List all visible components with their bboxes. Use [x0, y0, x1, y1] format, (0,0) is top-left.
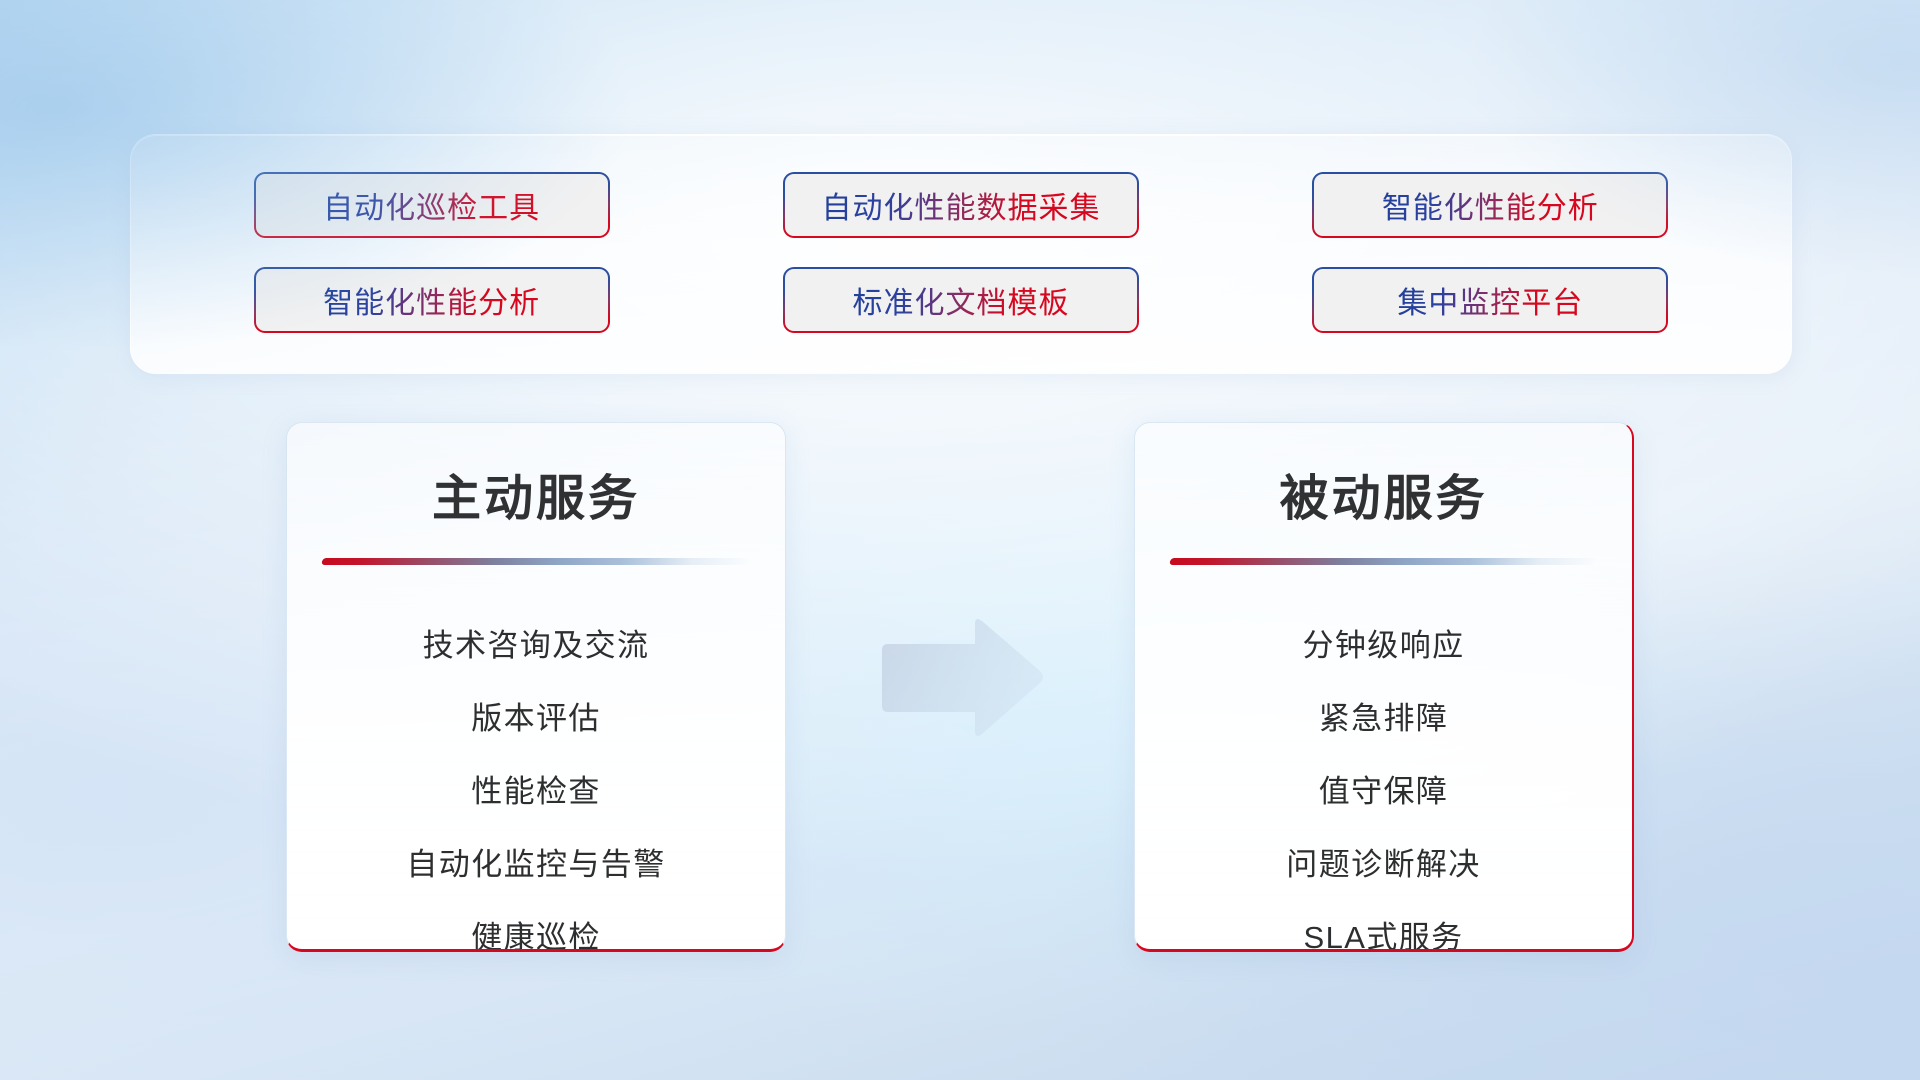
list-item: SLA式服务 — [1135, 901, 1632, 952]
service-card-proactive: 主动服务 技术咨询及交流 版本评估 性能检查 自动化监控与告警 健康巡检 — [286, 422, 786, 952]
list-item: 问题诊断解决 — [1135, 828, 1632, 901]
list-item: 版本评估 — [287, 682, 785, 755]
list-item: 健康巡检 — [287, 901, 785, 952]
card-title: 主动服务 — [287, 459, 785, 530]
capability-tag-grid: 自动化巡检工具 自动化性能数据采集 智能化性能分析 智能化性能分析 标准化文档模… — [131, 135, 1791, 373]
capability-tag-label: 智能化性能分析 — [1382, 183, 1599, 227]
slide-canvas: 自动化巡检工具 自动化性能数据采集 智能化性能分析 智能化性能分析 标准化文档模… — [0, 0, 1920, 1080]
capability-tag[interactable]: 自动化巡检工具 — [254, 172, 610, 238]
card-title: 被动服务 — [1135, 459, 1632, 530]
list-item: 自动化监控与告警 — [287, 828, 785, 901]
capability-tag[interactable]: 自动化性能数据采集 — [783, 172, 1139, 238]
list-item: 紧急排障 — [1135, 682, 1632, 755]
capability-tag-label: 集中监控平台 — [1397, 278, 1583, 322]
capability-tag-label: 自动化巡检工具 — [323, 183, 540, 227]
capability-panel: 自动化巡检工具 自动化性能数据采集 智能化性能分析 智能化性能分析 标准化文档模… — [130, 134, 1792, 374]
card-divider — [321, 558, 751, 565]
capability-tag[interactable]: 智能化性能分析 — [254, 267, 610, 333]
card-divider — [1169, 558, 1599, 565]
capability-tag[interactable]: 标准化文档模板 — [783, 267, 1139, 333]
capability-tag[interactable]: 集中监控平台 — [1312, 267, 1668, 333]
list-item: 性能检查 — [287, 755, 785, 828]
service-card-reactive: 被动服务 分钟级响应 紧急排障 值守保障 问题诊断解决 SLA式服务 — [1134, 422, 1634, 952]
capability-tag[interactable]: 智能化性能分析 — [1312, 172, 1668, 238]
list-item: 值守保障 — [1135, 755, 1632, 828]
flow-connector — [872, 614, 1048, 742]
capability-tag-label: 自动化性能数据采集 — [821, 183, 1100, 227]
list-item: 技术咨询及交流 — [287, 609, 785, 682]
capability-tag-label: 智能化性能分析 — [323, 278, 540, 322]
capability-tag-label: 标准化文档模板 — [852, 278, 1069, 322]
service-item-list: 技术咨询及交流 版本评估 性能检查 自动化监控与告警 健康巡检 — [287, 609, 785, 952]
service-item-list: 分钟级响应 紧急排障 值守保障 问题诊断解决 SLA式服务 — [1135, 609, 1632, 952]
list-item: 分钟级响应 — [1135, 609, 1632, 682]
arrow-right-icon — [872, 614, 1048, 742]
